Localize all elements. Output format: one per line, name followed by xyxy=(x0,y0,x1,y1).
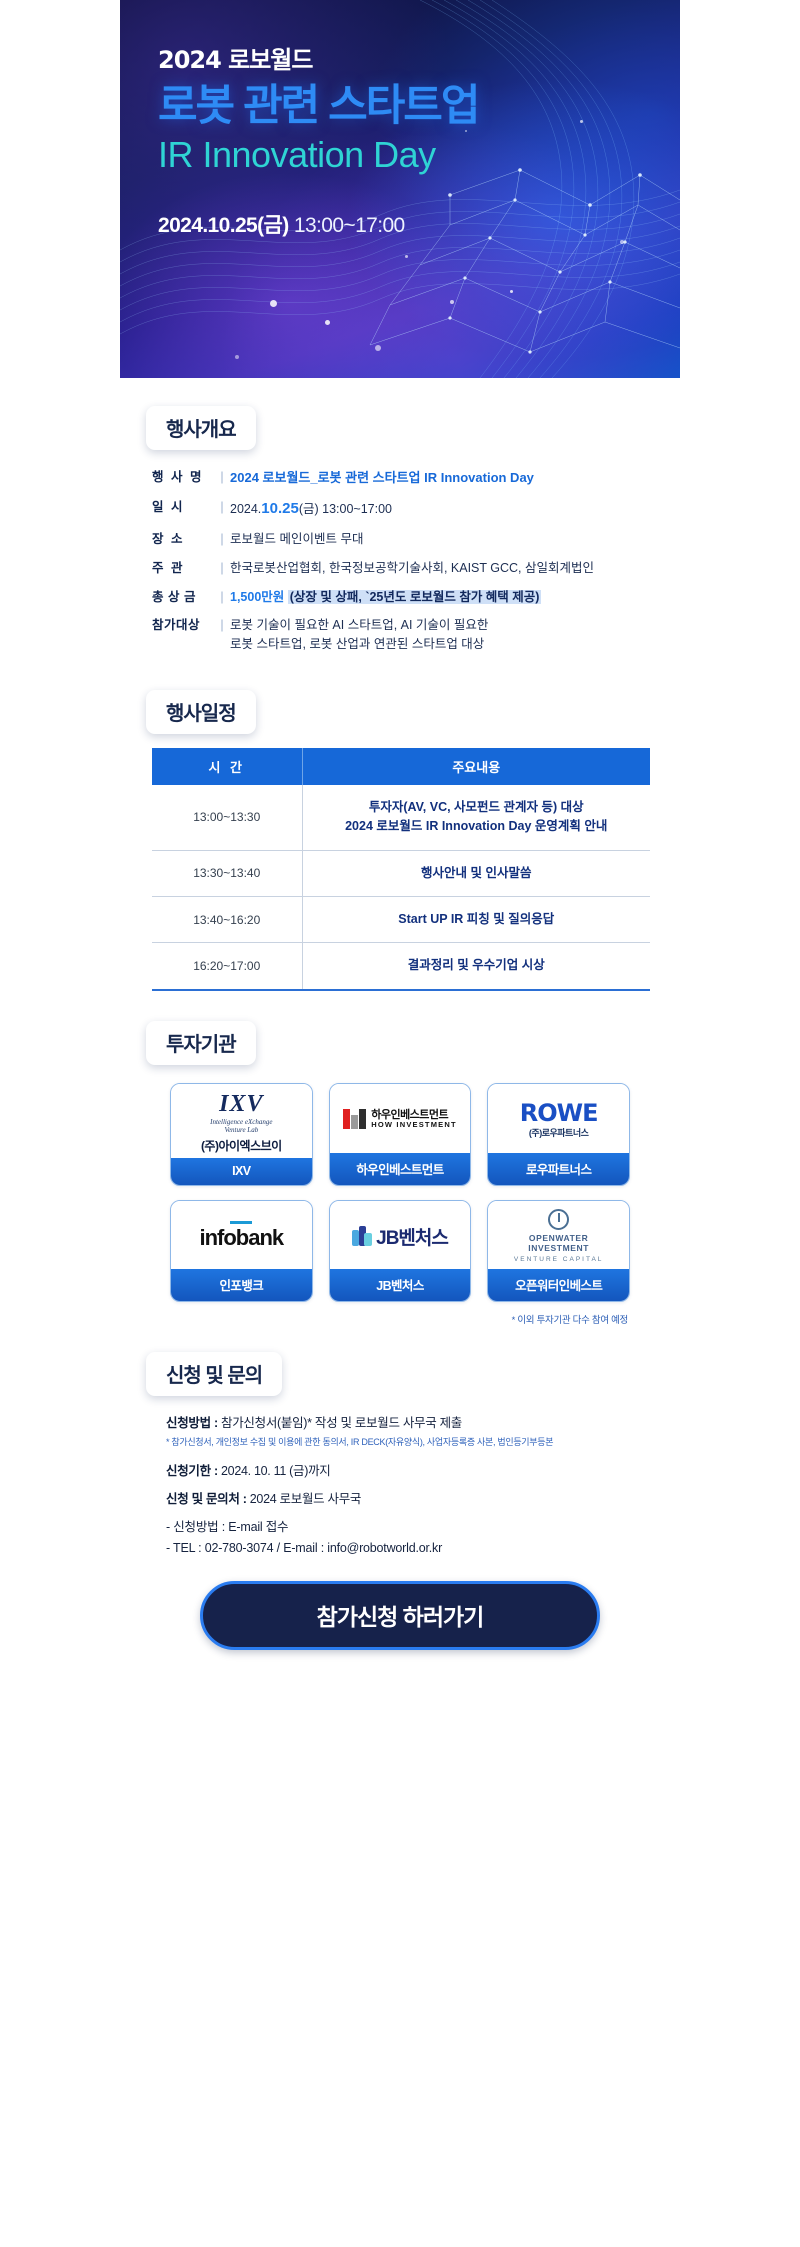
hero-banner: 2024 로보월드 로봇 관련 스타트업 IR Innovation Day 2… xyxy=(120,0,680,378)
hero-date: 2024.10.25(금) 13:00~17:00 xyxy=(158,209,658,239)
schedule-table: 시 간 주요내용 13:00~13:30 투자자(AV, VC, 사모펀드 관계… xyxy=(152,748,650,991)
infobank-bar-icon xyxy=(230,1221,252,1224)
overview-separator: | xyxy=(214,498,230,517)
overview-value: 한국로봇산업협회, 한국정보공학기술사회, KAIST GCC, 삼일회계법인 xyxy=(230,559,650,578)
hero-time-value: 13:00~17:00 xyxy=(294,214,405,237)
apply-contact-label: 신청 및 문의처 : xyxy=(166,1492,247,1506)
overview-heading: 행사개요 xyxy=(146,406,256,450)
schedule-header-row: 시 간 주요내용 xyxy=(152,748,650,785)
overview-separator: | xyxy=(214,530,230,549)
schedule-heading: 행사일정 xyxy=(146,690,256,734)
schedule-desc: 행사안내 및 인사말씀 xyxy=(302,850,650,896)
apply-heading: 신청 및 문의 xyxy=(146,1352,282,1396)
ixv-korean-name: (주)아이엑스브이 xyxy=(201,1140,282,1152)
investor-name: 하우인베스트먼트 xyxy=(330,1153,471,1185)
schedule-time: 13:30~13:40 xyxy=(152,850,302,896)
schedule-time: 16:20~17:00 xyxy=(152,943,302,990)
overview-row-organizer: 주 관 | 한국로봇산업협회, 한국정보공학기술사회, KAIST GCC, 삼… xyxy=(152,559,650,578)
investor-card-ixv[interactable]: IXV Intelligence eXchange Venture Lab (주… xyxy=(170,1083,313,1187)
hero-kicker: 2024 로보월드 xyxy=(158,48,658,72)
overview-row-audience: 참가대상 | 로봇 기술이 필요한 AI 스타트업, AI 기술이 필요한 로봇… xyxy=(152,616,650,654)
table-row: 13:30~13:40 행사안내 및 인사말씀 xyxy=(152,850,650,896)
overview-value: 2024 로보월드_로봇 관련 스타트업 IR Innovation Day xyxy=(230,468,650,488)
schedule-col-content: 주요내용 xyxy=(302,748,650,785)
hero-date-value: 2024.10.25(금) xyxy=(158,214,289,237)
apply-heading-wrap: 신청 및 문의 xyxy=(120,1352,680,1396)
investors-heading: 투자기관 xyxy=(146,1021,256,1065)
schedule-desc: 결과정리 및 우수기업 시상 xyxy=(302,943,650,990)
prize-benefit: (상장 및 상패, `25년도 로보월드 참가 혜택 제공) xyxy=(288,590,542,604)
overview-label: 참가대상 xyxy=(152,616,214,635)
overview-label: 행 사 명 xyxy=(152,468,214,487)
table-row: 13:40~16:20 Start UP IR 피칭 및 질의응답 xyxy=(152,896,650,942)
overview-label: 일 시 xyxy=(152,498,214,517)
rowe-korean-name: (주)로우파트너스 xyxy=(520,1129,598,1138)
overview-value: 2024.10.25(금) 13:00~17:00 xyxy=(230,498,650,521)
ixv-tagline: Intelligence eXchange Venture Lab xyxy=(201,1118,282,1136)
overview-row-datetime: 일 시 | 2024.10.25(금) 13:00~17:00 xyxy=(152,498,650,521)
poster-page: 2024 로보월드 로봇 관련 스타트업 IR Innovation Day 2… xyxy=(0,0,800,1680)
schedule-desc: 투자자(AV, VC, 사모펀드 관계자 등) 대상 2024 로보월드 IR … xyxy=(302,785,650,850)
openwater-investment-logo: OPENWATER INVESTMENT VENTURE CAPITAL xyxy=(488,1201,629,1269)
investor-name: 로우파트너스 xyxy=(488,1153,629,1185)
audience-line-1: 로봇 기술이 필요한 AI 스타트업, AI 기술이 필요한 xyxy=(230,616,650,635)
overview-separator: | xyxy=(214,468,230,487)
audience-line-2: 로봇 스타트업, 로봇 산업과 연관된 스타트업 대상 xyxy=(230,635,650,654)
openwater-ring-icon xyxy=(548,1209,569,1230)
apply-method-text: 참가신청서(붙임)* 작성 및 로보월드 사무국 제출 xyxy=(221,1416,462,1430)
schedule-table-body: 13:00~13:30 투자자(AV, VC, 사모펀드 관계자 등) 대상 2… xyxy=(152,785,650,990)
overview-row-prize: 총 상 금 | 1,500만원 (상장 및 상패, `25년도 로보월드 참가 … xyxy=(152,588,650,607)
apply-contact-item: - 신청방법 : E-mail 접수 xyxy=(166,1516,650,1535)
schedule-table-head: 시 간 주요내용 xyxy=(152,748,650,785)
schedule-heading-wrap: 행사일정 xyxy=(120,690,680,734)
overview-row-venue: 장 소 | 로보월드 메인이벤트 무대 xyxy=(152,530,650,549)
overview-label: 총 상 금 xyxy=(152,588,214,607)
overview-value: 로봇 기술이 필요한 AI 스타트업, AI 기술이 필요한 로봇 스타트업, … xyxy=(230,616,650,654)
infobank-logo: infobank xyxy=(171,1201,312,1269)
hero-title: 로봇 관련 스타트업 xyxy=(158,84,658,130)
apply-contact-line: 신청 및 문의처 : 2024 로보월드 사무국 xyxy=(166,1488,650,1507)
rowe-partners-logo: ROWE (주)로우파트너스 xyxy=(488,1084,629,1154)
schedule-table-wrap: 시 간 주요내용 13:00~13:30 투자자(AV, VC, 사모펀드 관계… xyxy=(152,748,650,991)
apply-section: 신청방법 : 참가신청서(붙임)* 작성 및 로보월드 사무국 제출 * 참가신… xyxy=(166,1412,650,1555)
openwater-line-3: VENTURE CAPITAL xyxy=(514,1256,603,1263)
ixv-logo: IXV Intelligence eXchange Venture Lab (주… xyxy=(171,1084,312,1159)
investor-name: 인포뱅크 xyxy=(171,1269,312,1301)
investor-name: 오픈워터인베스트 xyxy=(488,1269,629,1301)
rowe-wordmark: ROWE xyxy=(520,1101,598,1125)
table-row: 16:20~17:00 결과정리 및 우수기업 시상 xyxy=(152,943,650,990)
prize-amount: 1,500만원 xyxy=(230,590,284,604)
ixv-wordmark: IXV xyxy=(201,1092,282,1116)
apply-deadline-text: 2024. 10. 11 (금)까지 xyxy=(221,1464,330,1478)
investor-card-jb-ventures[interactable]: JB벤처스 JB벤처스 xyxy=(329,1200,472,1302)
overview-separator: | xyxy=(214,588,230,607)
overview-separator: | xyxy=(214,616,230,635)
investor-card-how-investment[interactable]: 하우인베스트먼트 HOW INVESTMENT 하우인베스트먼트 xyxy=(329,1083,472,1187)
schedule-time: 13:00~13:30 xyxy=(152,785,302,850)
overview-row-event-name: 행 사 명 | 2024 로보월드_로봇 관련 스타트업 IR Innovati… xyxy=(152,468,650,488)
cta-wrap: 참가신청 하러가기 xyxy=(120,1581,680,1650)
table-row: 13:00~13:30 투자자(AV, VC, 사모펀드 관계자 등) 대상 2… xyxy=(152,785,650,850)
date-prefix: 2024. xyxy=(230,502,261,516)
date-suffix: (금) 13:00~17:00 xyxy=(299,502,392,516)
hero-content: 2024 로보월드 로봇 관련 스타트업 IR Innovation Day 2… xyxy=(158,48,658,239)
infobank-wordmark: infobank xyxy=(199,1225,283,1251)
investor-card-rowe-partners[interactable]: ROWE (주)로우파트너스 로우파트너스 xyxy=(487,1083,630,1187)
overview-label: 주 관 xyxy=(152,559,214,578)
overview-list: 행 사 명 | 2024 로보월드_로봇 관련 스타트업 IR Innovati… xyxy=(120,468,680,654)
overview-separator: | xyxy=(214,559,230,578)
schedule-col-time: 시 간 xyxy=(152,748,302,785)
apply-contact-text: 2024 로보월드 사무국 xyxy=(250,1492,361,1506)
overview-label: 장 소 xyxy=(152,530,214,549)
schedule-time: 13:40~16:20 xyxy=(152,896,302,942)
jb-wordmark: JB벤처스 xyxy=(376,1223,448,1250)
overview-value: 로보월드 메인이벤트 무대 xyxy=(230,530,650,549)
investors-heading-wrap: 투자기관 xyxy=(120,1021,680,1065)
apply-method-note: * 참가신청서, 개인정보 수집 및 이용에 관한 동의서, IR DECK(자… xyxy=(166,1435,650,1448)
how-investment-logo: 하우인베스트먼트 HOW INVESTMENT xyxy=(330,1084,471,1154)
hero-subtitle: IR Innovation Day xyxy=(158,132,658,177)
ixv-tagline-line-1: Intelligence eXchange xyxy=(201,1118,282,1127)
schedule-desc-line-1: 투자자(AV, VC, 사모펀드 관계자 등) 대상 xyxy=(309,798,645,817)
apply-now-button[interactable]: 참가신청 하러가기 xyxy=(200,1581,600,1650)
investor-name: IXV xyxy=(171,1158,312,1185)
how-bars-icon xyxy=(343,1109,366,1129)
openwater-line-2: INVESTMENT xyxy=(514,1244,603,1254)
ixv-tagline-line-2: Venture Lab xyxy=(201,1126,282,1135)
poster: 2024 로보월드 로봇 관련 스타트업 IR Innovation Day 2… xyxy=(120,0,680,1650)
overview-heading-wrap: 행사개요 xyxy=(120,406,680,450)
date-emphasis: 10.25 xyxy=(261,500,299,517)
investor-card-openwater-investment[interactable]: OPENWATER INVESTMENT VENTURE CAPITAL 오픈워… xyxy=(487,1200,630,1302)
apply-deadline-line: 신청기한 : 2024. 10. 11 (금)까지 xyxy=(166,1460,650,1479)
jb-ventures-logo: JB벤처스 xyxy=(330,1201,471,1269)
investors-grid: IXV Intelligence eXchange Venture Lab (주… xyxy=(170,1083,630,1303)
apply-method-line: 신청방법 : 참가신청서(붙임)* 작성 및 로보월드 사무국 제출 xyxy=(166,1412,650,1431)
apply-method-label: 신청방법 : xyxy=(166,1416,218,1430)
how-english-name: HOW INVESTMENT xyxy=(371,1121,457,1130)
apply-deadline-label: 신청기한 : xyxy=(166,1464,218,1478)
investor-card-infobank[interactable]: infobank 인포뱅크 xyxy=(170,1200,313,1302)
schedule-desc: Start UP IR 피칭 및 질의응답 xyxy=(302,896,650,942)
investor-name: JB벤처스 xyxy=(330,1269,471,1301)
apply-contact-item: - TEL : 02-780-3074 / E-mail : info@robo… xyxy=(166,1541,650,1555)
investors-note: * 이외 투자기관 다수 참여 예정 xyxy=(120,1312,628,1326)
jb-mark-icon xyxy=(352,1226,372,1246)
overview-value: 1,500만원 (상장 및 상패, `25년도 로보월드 참가 혜택 제공) xyxy=(230,588,650,607)
schedule-desc-line-2: 2024 로보월드 IR Innovation Day 운영계획 안내 xyxy=(309,817,645,836)
